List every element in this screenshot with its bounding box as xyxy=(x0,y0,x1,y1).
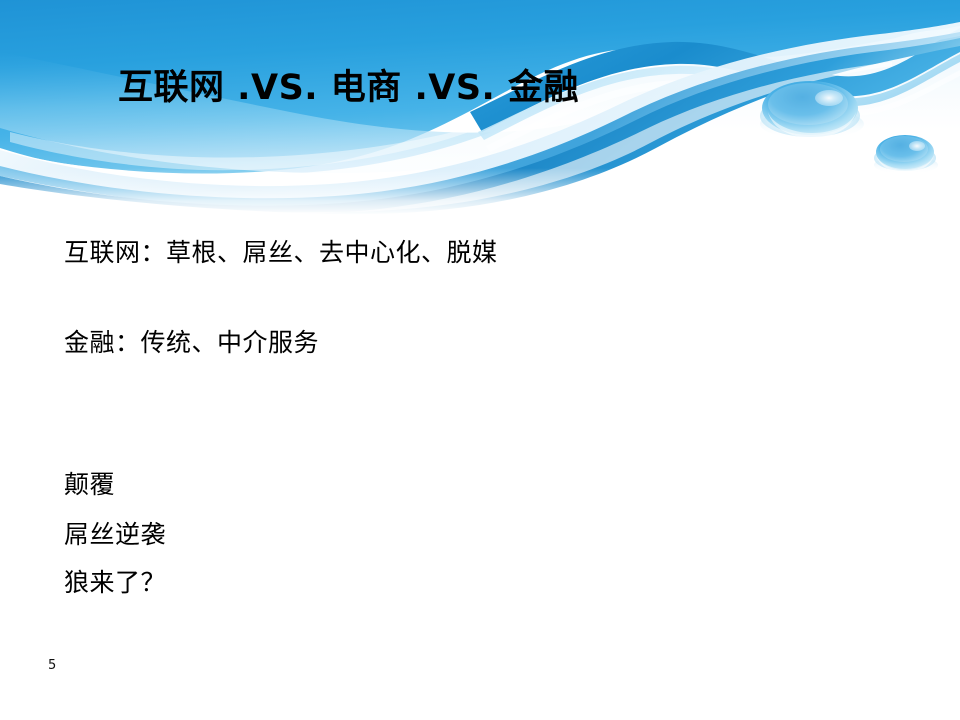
presentation-slide: 互联网 .VS. 电商 .VS. 金融 互联网：草根、屌丝、去中心化、脱媒 金融… xyxy=(0,0,960,720)
page-number: 5 xyxy=(48,658,56,674)
body-text-line-internet: 互联网：草根、屌丝、去中心化、脱媒 xyxy=(64,238,498,268)
body-text-line-counterattack: 屌丝逆袭 xyxy=(64,520,166,550)
body-text-line-wolf: 狼来了？ xyxy=(64,568,166,598)
body-text-line-finance: 金融：传统、中介服务 xyxy=(64,328,319,358)
body-text-line-disrupt: 颠覆 xyxy=(64,470,115,500)
page-title: 互联网 .VS. 电商 .VS. 金融 xyxy=(118,66,579,110)
